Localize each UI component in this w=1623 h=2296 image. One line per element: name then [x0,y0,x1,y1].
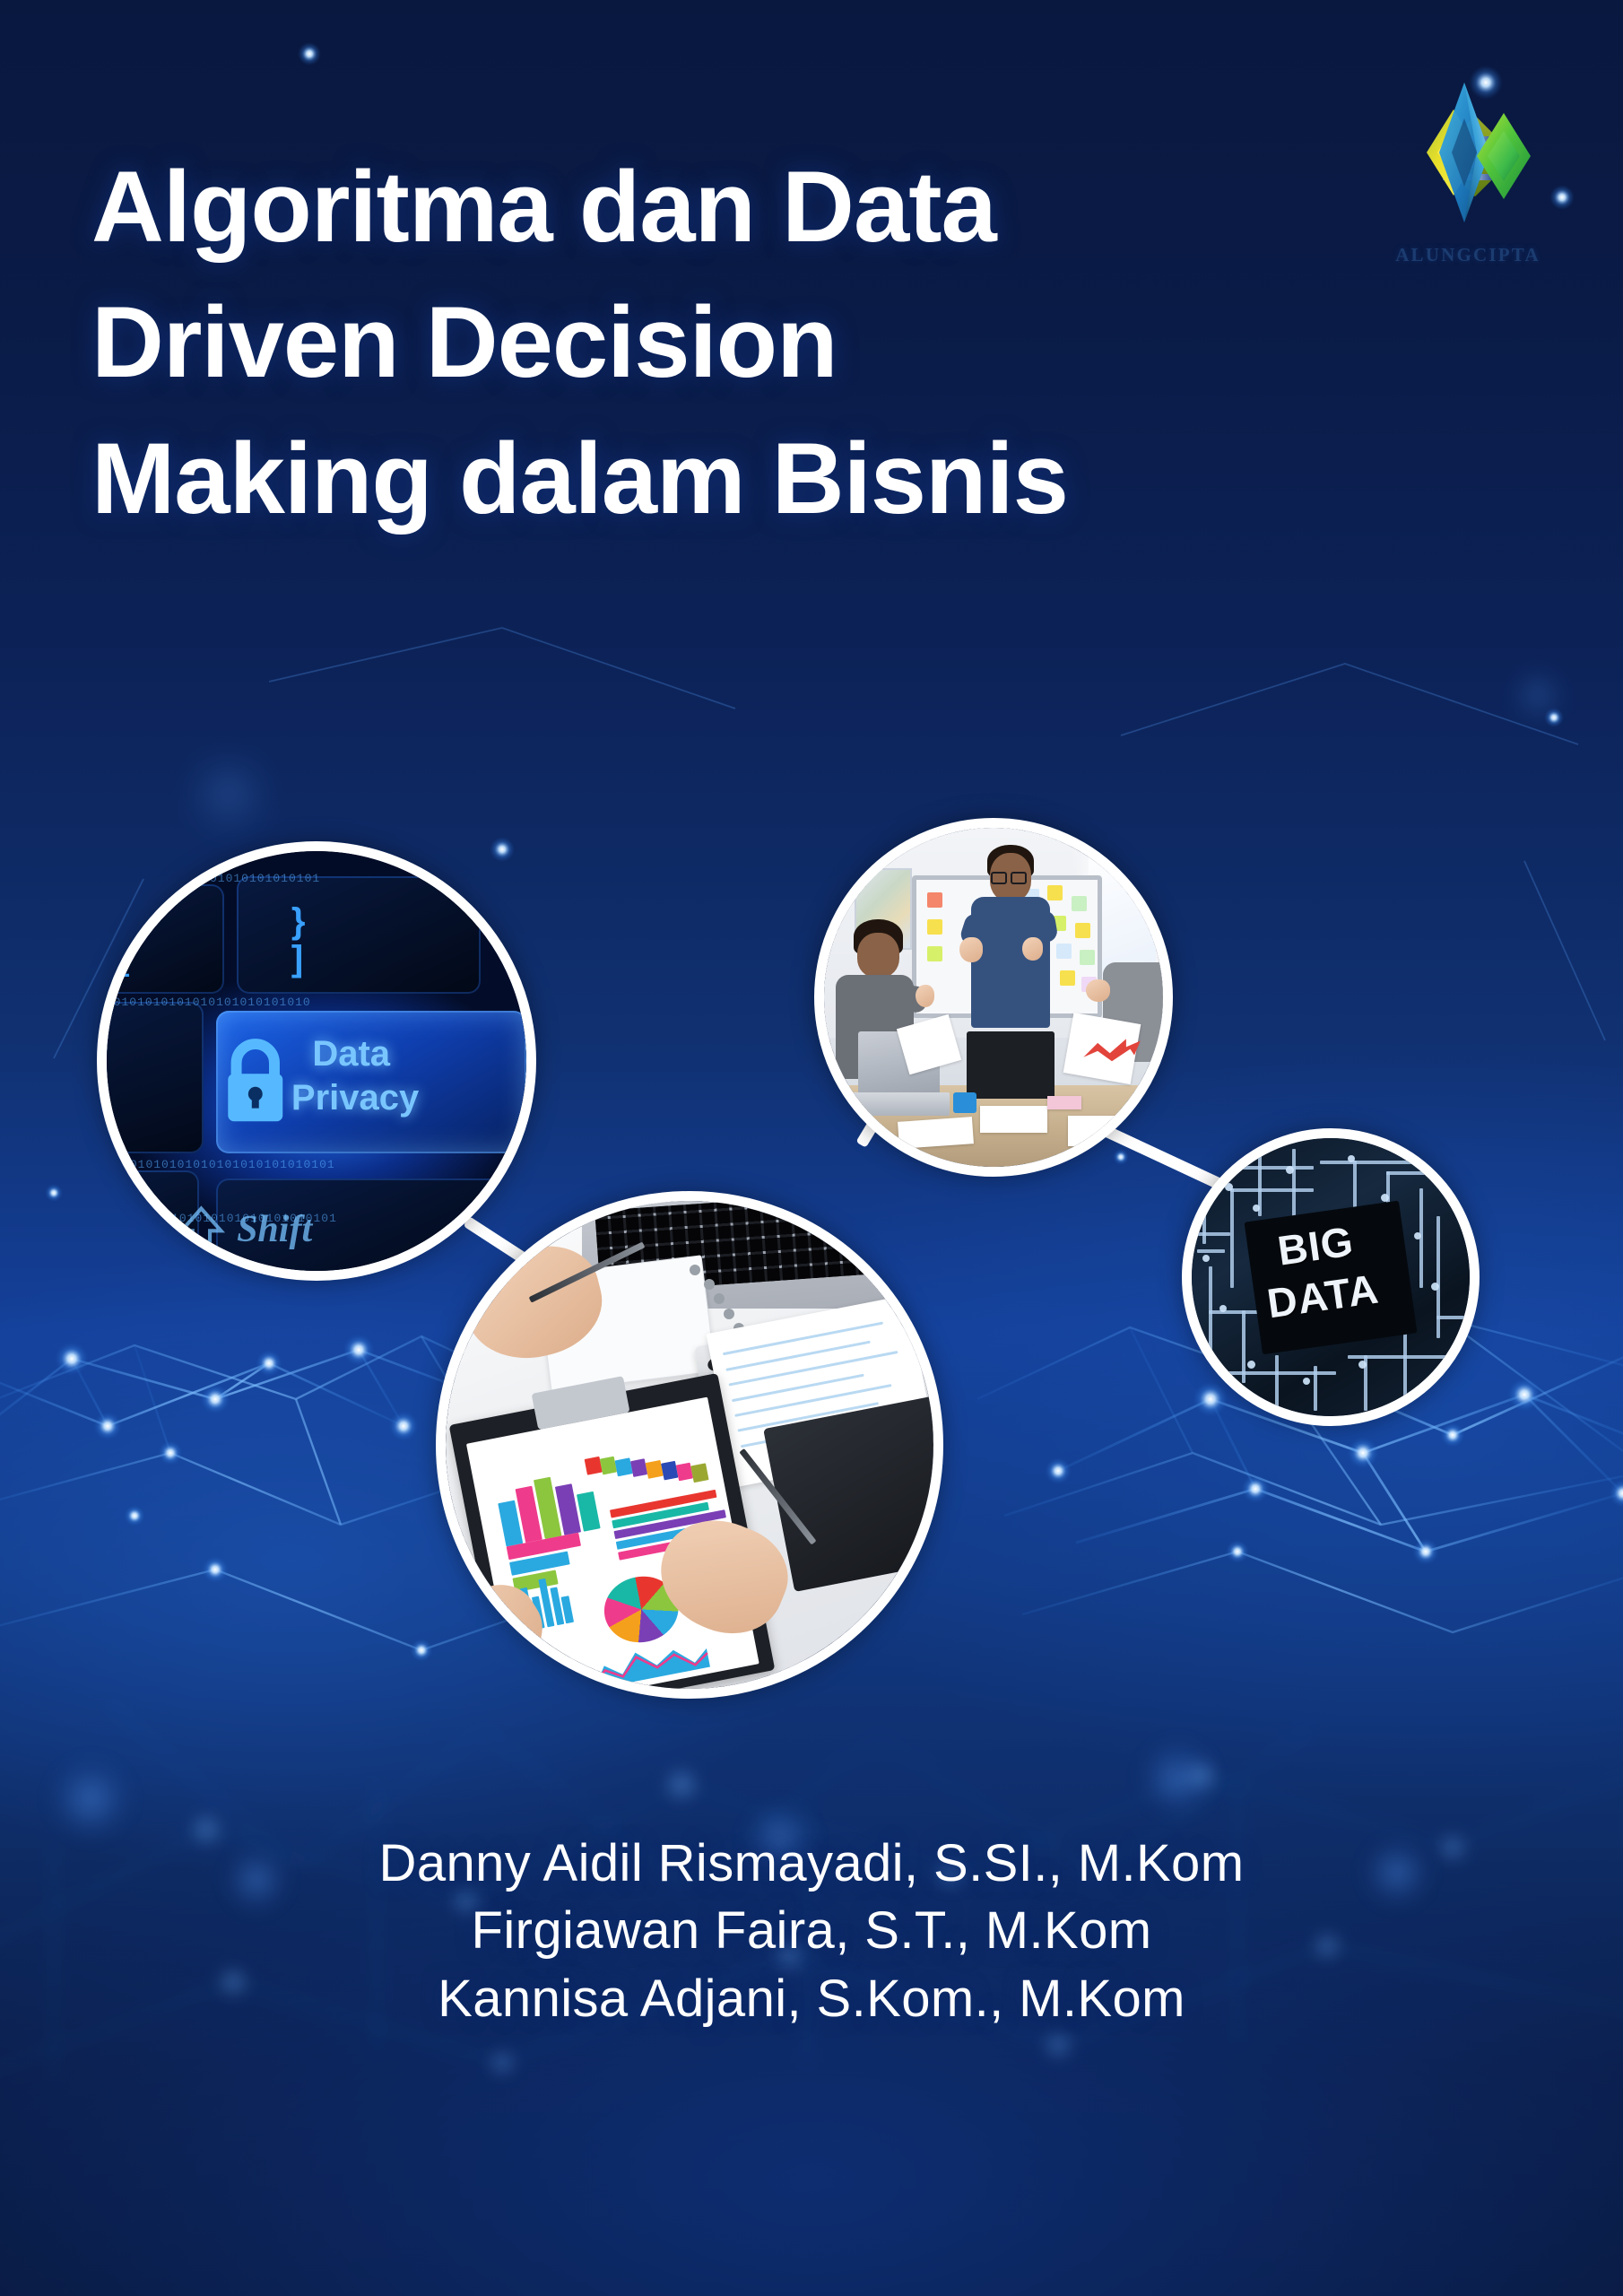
title-line-3: Making dalam Bisnis [91,422,1230,535]
book-cover: Algoritma dan Data Driven Decision Makin… [0,0,1623,2296]
report-sheet [706,1295,933,1487]
author-list: Danny Aidil Rismayadi, S.SI., M.Kom Firg… [0,1830,1623,2032]
bokeh-blob [1139,1740,1216,1817]
connector-line [1046,1100,1222,1190]
pie-chart [598,1570,683,1648]
data-privacy-label-2: Privacy [291,1080,419,1118]
hand-holding-clipboard [446,1570,559,1689]
bokeh-blob [179,735,278,852]
presenter-person [953,845,1069,1055]
photo-team-meeting [814,818,1173,1177]
connector-line [855,980,962,1148]
seated-person-right [1095,936,1163,1079]
laptop [582,1201,904,1309]
shift-key-label: Shift [237,1208,312,1251]
photo-business-analytics [436,1191,943,1699]
big-data-photo: BIG DATA [1192,1138,1470,1416]
hand-writing-top [455,1235,613,1372]
connector-line [463,1216,657,1348]
big-data-label-1: BIG [1275,1222,1356,1272]
photo-data-privacy: } ] [ Data Privacy 010101010101010101010… [97,841,536,1281]
area-chart [586,1630,709,1689]
author-name: Kannisa Adjani, S.Kom., M.Kom [0,1965,1623,2032]
data-privacy-label-1: Data [312,1036,390,1074]
publisher-name: ALUNGCIPTA [1374,244,1562,266]
meeting-photo [824,828,1163,1167]
photo-big-data: BIG DATA [1182,1128,1480,1426]
author-name: Danny Aidil Rismayadi, S.SI., M.Kom [0,1830,1623,1897]
tablet-device [967,1031,1055,1100]
hand-writing-bottom [645,1503,803,1650]
title-line-1: Algoritma dan Data [91,151,1230,263]
title-line-2: Driven Decision [91,286,1230,398]
publisher-logo: ALUNGCIPTA [1374,63,1562,266]
red-arrow-icon [1081,1031,1142,1069]
cover-title: Algoritma dan Data Driven Decision Makin… [91,151,1230,535]
tablet-device [763,1396,933,1592]
analytics-photo [446,1201,933,1689]
world-map-poster [855,868,912,950]
big-data-label-2: DATA [1264,1270,1381,1325]
alungcipta-diamond-icon [1387,63,1549,242]
whiteboard [912,875,1102,1018]
keyboard-photo: } ] [ Data Privacy 010101010101010101010… [107,851,526,1271]
author-name: Firgiawan Faira, S.T., M.Kom [0,1897,1623,1964]
bokeh-blob [1506,664,1569,726]
clipboard-charts [448,1373,774,1689]
notebook [537,1255,716,1391]
lock-icon [220,1036,291,1128]
shift-arrow-icon [174,1204,229,1246]
calculator [694,1319,881,1429]
bokeh-blob [49,1758,132,1840]
seated-person-left [834,919,922,1082]
